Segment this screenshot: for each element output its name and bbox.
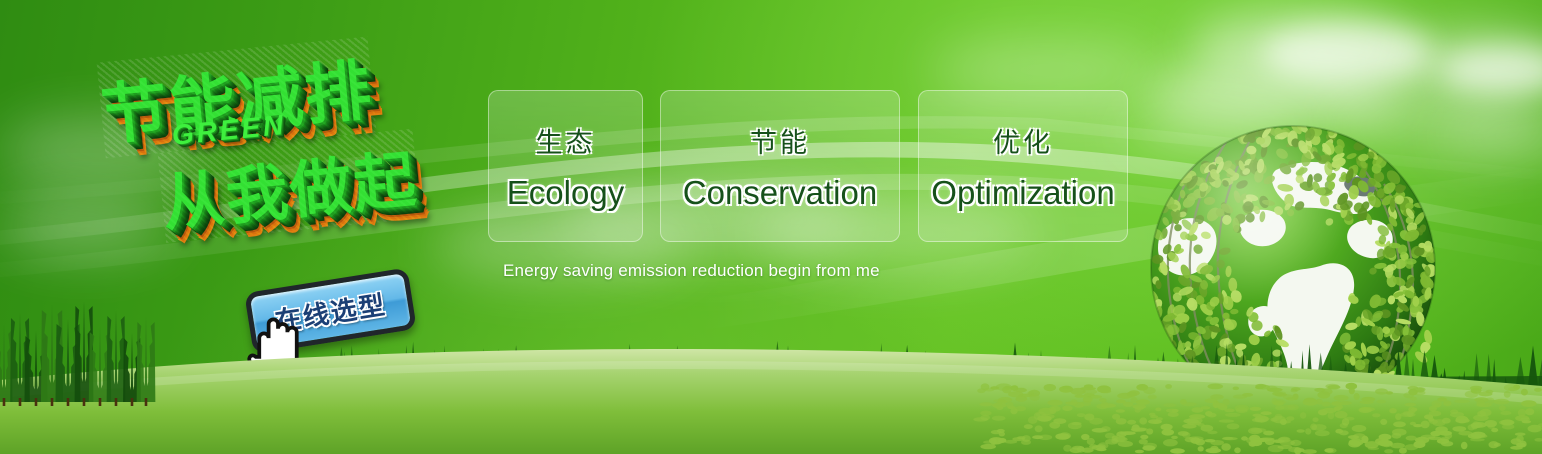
grass-ground bbox=[0, 334, 1542, 454]
eco-banner: 节能减排 GREEN 从我做起 在线选型 生态 Ecology 节能 Conse… bbox=[0, 0, 1542, 454]
feature-card-cn-label: 优化 bbox=[993, 121, 1053, 160]
cloud-icon bbox=[1120, 108, 1300, 156]
feature-card-en-label: Optimization bbox=[931, 174, 1114, 212]
cloud-icon bbox=[1190, 8, 1420, 86]
cloud-icon bbox=[1262, 24, 1432, 82]
cloud-icon bbox=[1440, 48, 1542, 92]
feature-card-conservation[interactable]: 节能 Conservation bbox=[660, 90, 900, 242]
feature-card-en-label: Ecology bbox=[507, 174, 624, 212]
cloud-icon bbox=[1148, 60, 1408, 130]
feature-card-optimization[interactable]: 优化 Optimization bbox=[918, 90, 1128, 242]
feature-card-ecology[interactable]: 生态 Ecology bbox=[488, 90, 643, 242]
online-selection-cta[interactable]: 在线选型 bbox=[248, 276, 423, 366]
feature-card-en-label: Conservation bbox=[683, 174, 877, 212]
cloud-icon bbox=[1330, 88, 1542, 150]
feature-card-cn-label: 生态 bbox=[536, 121, 596, 160]
cloud-icon bbox=[1436, 110, 1542, 160]
cloud-icon bbox=[1390, 30, 1542, 96]
treeline bbox=[0, 322, 1542, 402]
tagline: Energy saving emission reduction begin f… bbox=[503, 261, 880, 281]
hand-pointer-icon bbox=[242, 310, 314, 392]
hero-title: 节能减排 GREEN 从我做起 bbox=[86, 17, 506, 284]
feature-card-cn-label: 节能 bbox=[750, 121, 810, 160]
leafy-earth-globe bbox=[1148, 118, 1438, 418]
left-conifer-cluster bbox=[0, 302, 180, 406]
